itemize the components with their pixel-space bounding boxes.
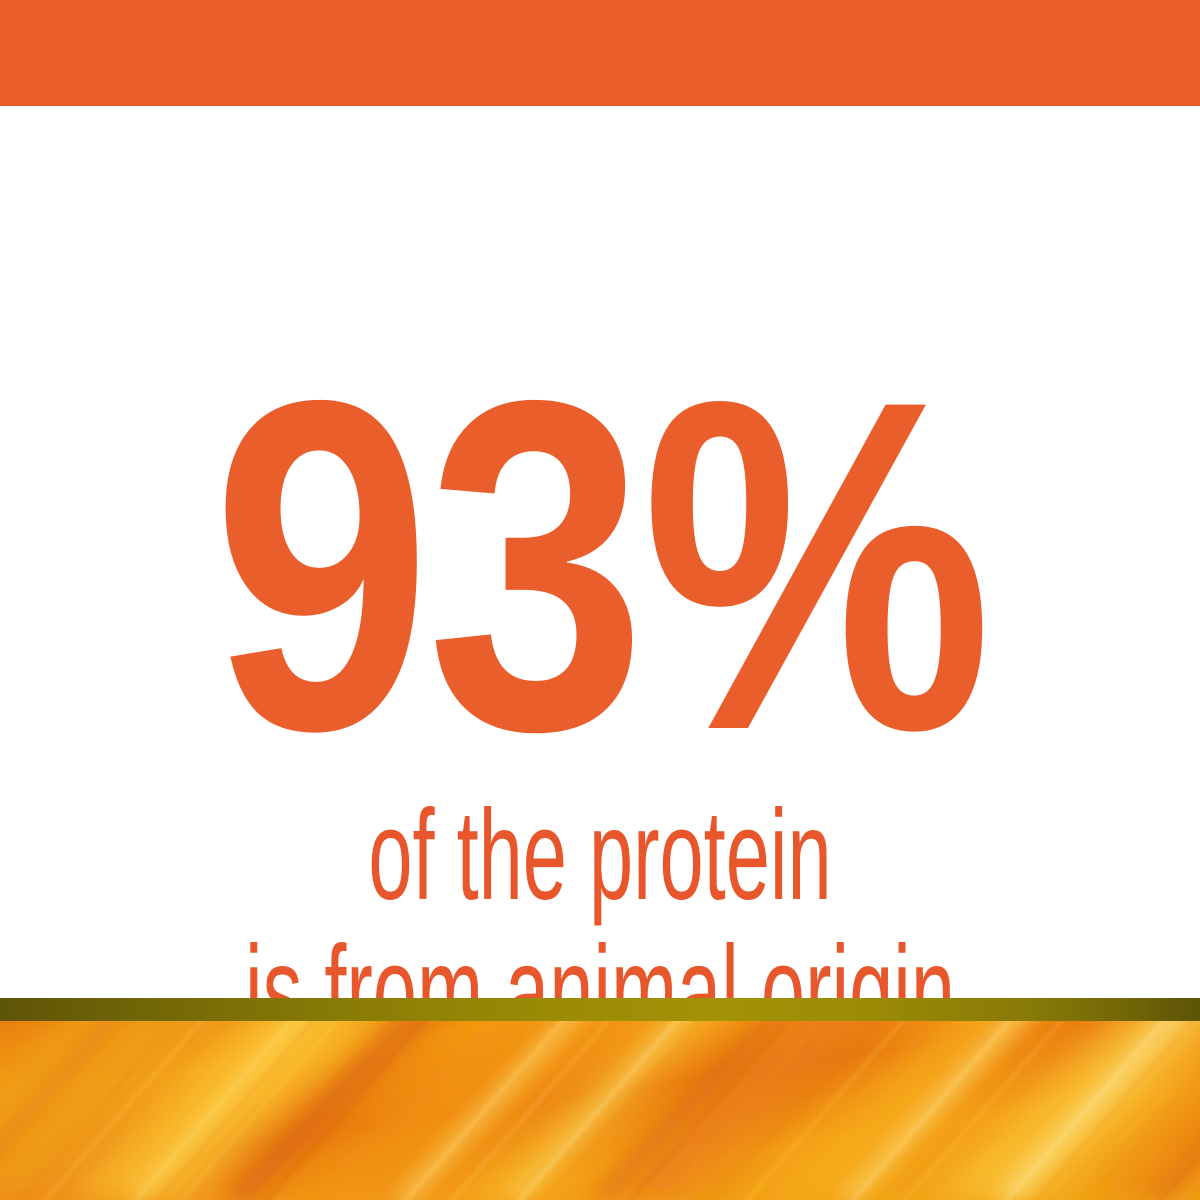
subtitle-line-1: of the protein xyxy=(228,792,972,920)
statistic-value: 93% xyxy=(212,364,988,768)
infographic-card: 93% of the protein is from animal origin xyxy=(0,0,1200,1200)
olive-gradient-divider xyxy=(0,998,1200,1021)
carrot-closeup-photograph xyxy=(0,1021,1200,1200)
content-panel: 93% of the protein is from animal origin xyxy=(0,106,1200,998)
top-accent-bar xyxy=(0,0,1200,106)
photo-texture-graphic xyxy=(0,1021,1200,1200)
statistic-block: 93% xyxy=(0,364,1200,768)
